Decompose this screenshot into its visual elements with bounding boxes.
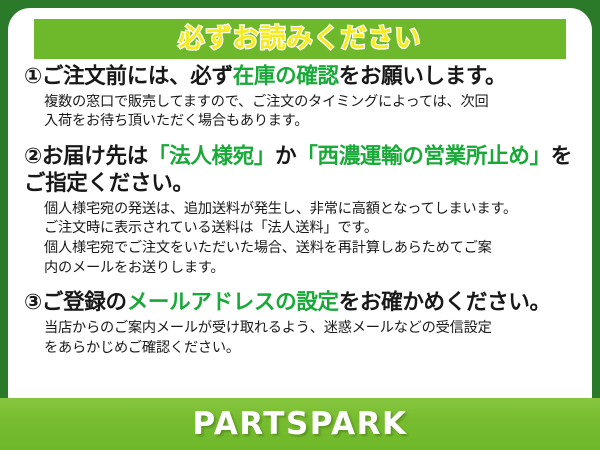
notice-item-2-heading-part-0: お届け先は: [42, 144, 148, 169]
notice-banner: 必ずお読みください ①ご注文前には、必ず在庫の確認をお願いします。 複数の窓口で…: [0, 0, 600, 450]
notice-item-2-heading-highlight-seino: 「西濃運輸の営業所止め」: [296, 144, 550, 169]
notice-panel: 必ずお読みください ①ご注文前には、必ず在庫の確認をお願いします。 複数の窓口で…: [8, 8, 592, 442]
notice-item-1-marker: ①: [24, 64, 42, 89]
notice-item-3-heading-highlight: メールアドレスの設定: [127, 290, 339, 315]
notice-item-2-heading: ②お届け先は「法人様宛」か「西濃運輸の営業所止め」をご指定ください。: [24, 144, 578, 198]
brand-logo: PARTSPARK: [192, 406, 407, 442]
notice-item-2-body: 個人様宅宛の発送は、追加送料が発生し、非常に高額となってしまいます。 ご注文時に…: [44, 200, 578, 278]
notice-item-2-heading-highlight-corporate: 「法人様宛」: [148, 144, 275, 169]
notice-item-1-heading: ①ご注文前には、必ず在庫の確認をお願いします。: [24, 64, 578, 91]
notice-item-2-body-line-3: 内のメールをお送りします。: [44, 259, 578, 279]
notice-item-1: ①ご注文前には、必ず在庫の確認をお願いします。 複数の窓口で販売してますので、ご…: [24, 64, 578, 132]
notice-item-1-body-line-0: 複数の窓口で販売してますので、ご注文のタイミングによっては、次回: [44, 93, 578, 113]
notice-item-3-heading: ③ご登録のメールアドレスの設定をお確かめください。: [24, 290, 578, 317]
notice-item-2: ②お届け先は「法人様宛」か「西濃運輸の営業所止め」をご指定ください。 個人様宅宛…: [24, 144, 578, 278]
header-title: 必ずお読みください: [178, 26, 421, 52]
notice-content: ①ご注文前には、必ず在庫の確認をお願いします。 複数の窓口で販売してますので、ご…: [8, 64, 592, 360]
notice-item-1-heading-part-0: ご注文前には、必ず: [42, 64, 233, 89]
notice-item-2-marker: ②: [24, 144, 42, 169]
notice-item-3-heading-part-2: をお確かめください。: [339, 290, 551, 315]
notice-item-1-heading-part-2: をお願いします。: [339, 64, 506, 89]
notice-item-1-body: 複数の窓口で販売してますので、ご注文のタイミングによっては、次回 入荷をお待ち頂…: [44, 93, 578, 132]
notice-item-3: ③ご登録のメールアドレスの設定をお確かめください。 当店からのご案内メールが受け…: [24, 290, 578, 358]
notice-item-3-body: 当店からのご案内メールが受け取れるよう、迷惑メールなどの受信設定 をあらかじめご…: [44, 319, 578, 358]
notice-item-2-body-line-2: 個人様宅宛でご注文をいただいた場合、送料を再計算しあらためてご案: [44, 239, 578, 259]
notice-item-2-heading-part-2: か: [275, 144, 296, 169]
notice-item-1-heading-highlight: 在庫の確認: [233, 64, 339, 89]
notice-item-3-marker: ③: [24, 290, 42, 315]
notice-item-3-heading-part-0: ご登録の: [42, 290, 127, 315]
notice-item-3-body-line-1: をあらかじめご確認ください。: [44, 339, 578, 359]
notice-item-1-body-line-1: 入荷をお待ち頂いただく場合もあります。: [44, 112, 578, 132]
header-band: 必ずお読みください: [34, 19, 566, 59]
notice-item-3-body-line-0: 当店からのご案内メールが受け取れるよう、迷惑メールなどの受信設定: [44, 319, 578, 339]
notice-item-2-body-line-0: 個人様宅宛の発送は、追加送料が発生し、非常に高額となってしまいます。: [44, 200, 578, 220]
notice-item-2-body-line-1: ご注文時に表示されている送料は「法人送料」です。: [44, 219, 578, 239]
footer-bar: PARTSPARK: [0, 398, 600, 450]
